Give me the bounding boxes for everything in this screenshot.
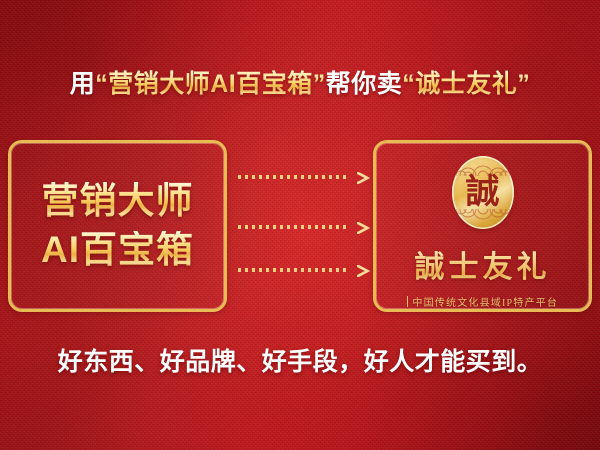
headline-middle: 帮你卖 (326, 70, 403, 98)
headline-quote-open-1: “ (95, 70, 108, 98)
seal-character: 誠 (466, 176, 500, 210)
arrow-shaft (238, 268, 346, 272)
gold-oval-seal-icon: 誠 (452, 156, 514, 229)
product-name-block: 营销大师 AI百宝箱 (11, 143, 224, 309)
arrow-head (357, 171, 370, 183)
right-brand-panel: 誠 (373, 140, 592, 312)
cloud-pattern-icon (456, 209, 510, 227)
headline-quote-close-2: ” (517, 70, 530, 98)
brand-tagline-text: 中国传统文化县域IP特产平台 (412, 294, 558, 309)
headline-prefix: 用 (70, 70, 96, 98)
headline-product-name: 营销大师AI百宝箱 (108, 70, 313, 98)
left-product-panel: 营销大师 AI百宝箱 (8, 140, 227, 312)
brand-tagline: 中国传统文化县域IP特产平台 (407, 294, 558, 309)
arrow-connector-group (238, 140, 370, 312)
brand-logo: 誠 (376, 143, 589, 309)
headline-brand-name: 诚士友礼 (415, 70, 517, 98)
arrow-shaft (238, 175, 346, 179)
headline: 用“营销大师AI百宝箱”帮你卖“诚士友礼” (0, 72, 600, 97)
dotted-arrow-right-icon (238, 264, 370, 276)
bottom-slogan: 好东西、好品牌、好手段，好人才能买到。 (0, 350, 600, 375)
arrow-shaft (238, 225, 346, 229)
headline-quote-open-2: “ (402, 70, 415, 98)
headline-quote-close-1: ” (313, 70, 326, 98)
product-name-line-1: 营销大师 (42, 182, 194, 221)
arrow-head (357, 221, 370, 233)
dotted-arrow-right-icon (238, 171, 370, 183)
dotted-arrow-right-icon (238, 221, 370, 233)
arrow-head (357, 264, 370, 276)
brand-name-text: 誠士友礼 (415, 242, 551, 286)
poster-canvas: 用“营销大师AI百宝箱”帮你卖“诚士友礼” 营销大师 AI百宝箱 (0, 0, 600, 450)
product-name-line-2: AI百宝箱 (41, 231, 194, 270)
vertical-bar-icon (407, 296, 409, 307)
